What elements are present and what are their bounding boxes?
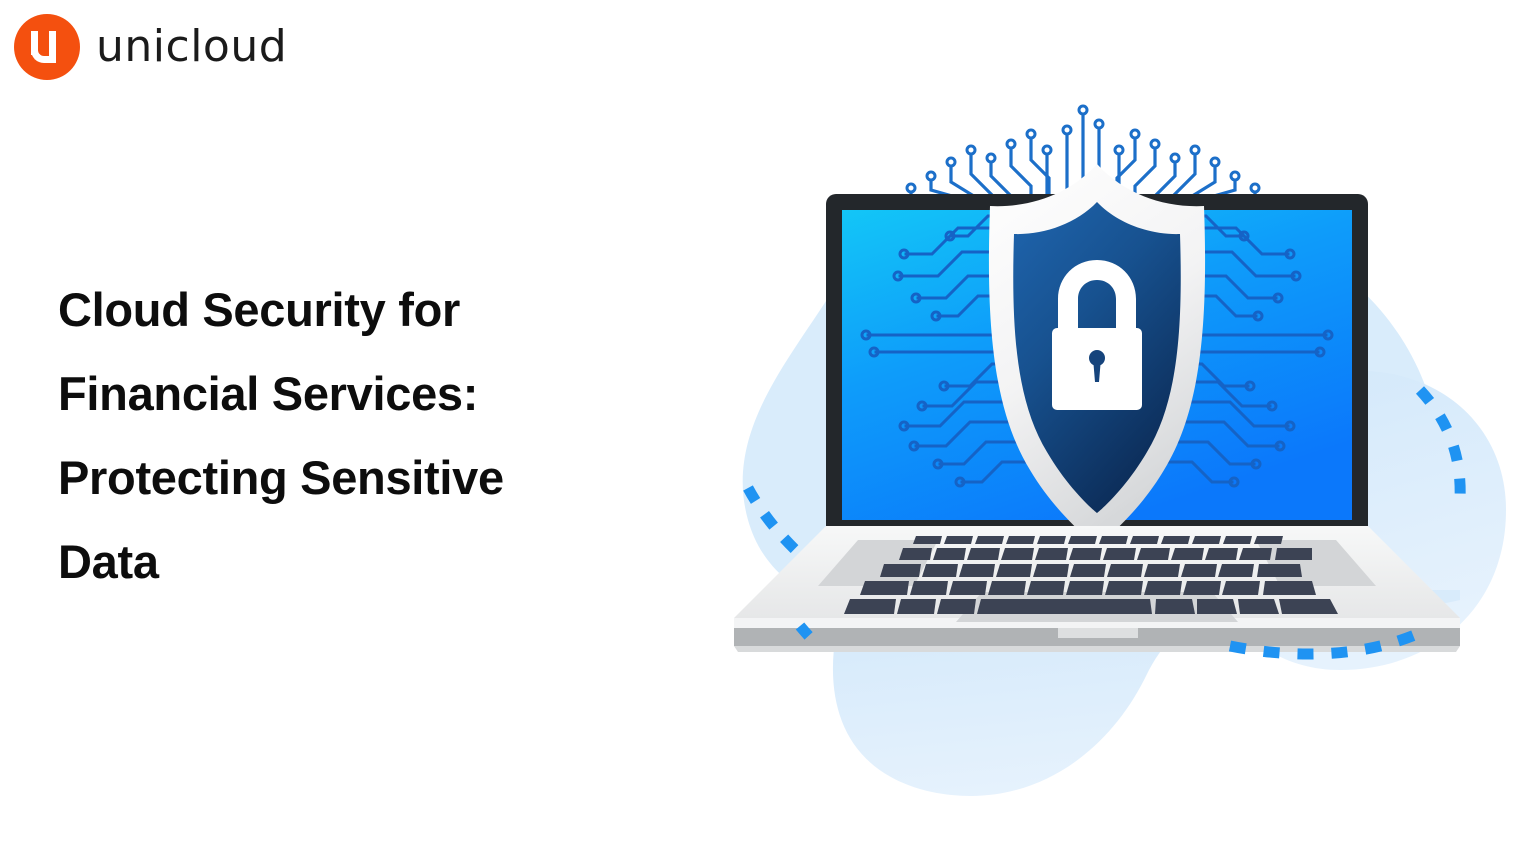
brand-wordmark: unicloud [96, 25, 287, 69]
page-title-line-2: Financial Services: [58, 352, 678, 436]
slide-canvas: unicloud Cloud Security for Financial Se… [0, 0, 1536, 864]
page-title: Cloud Security for Financial Services: P… [58, 268, 678, 604]
laptop-base [734, 526, 1460, 652]
brand-logo[interactable]: unicloud [14, 14, 287, 80]
laptop-front-notch [1058, 628, 1138, 638]
unicloud-u-mark-icon [14, 14, 80, 80]
page-title-line-4: Data [58, 520, 678, 604]
laptop-bottom-edge [734, 646, 1460, 652]
page-title-line-1: Cloud Security for [58, 268, 678, 352]
u-glyph-right-stem [49, 31, 56, 63]
laptop-security-illustration [700, 90, 1536, 820]
page-title-line-3: Protecting Sensitive [58, 436, 678, 520]
